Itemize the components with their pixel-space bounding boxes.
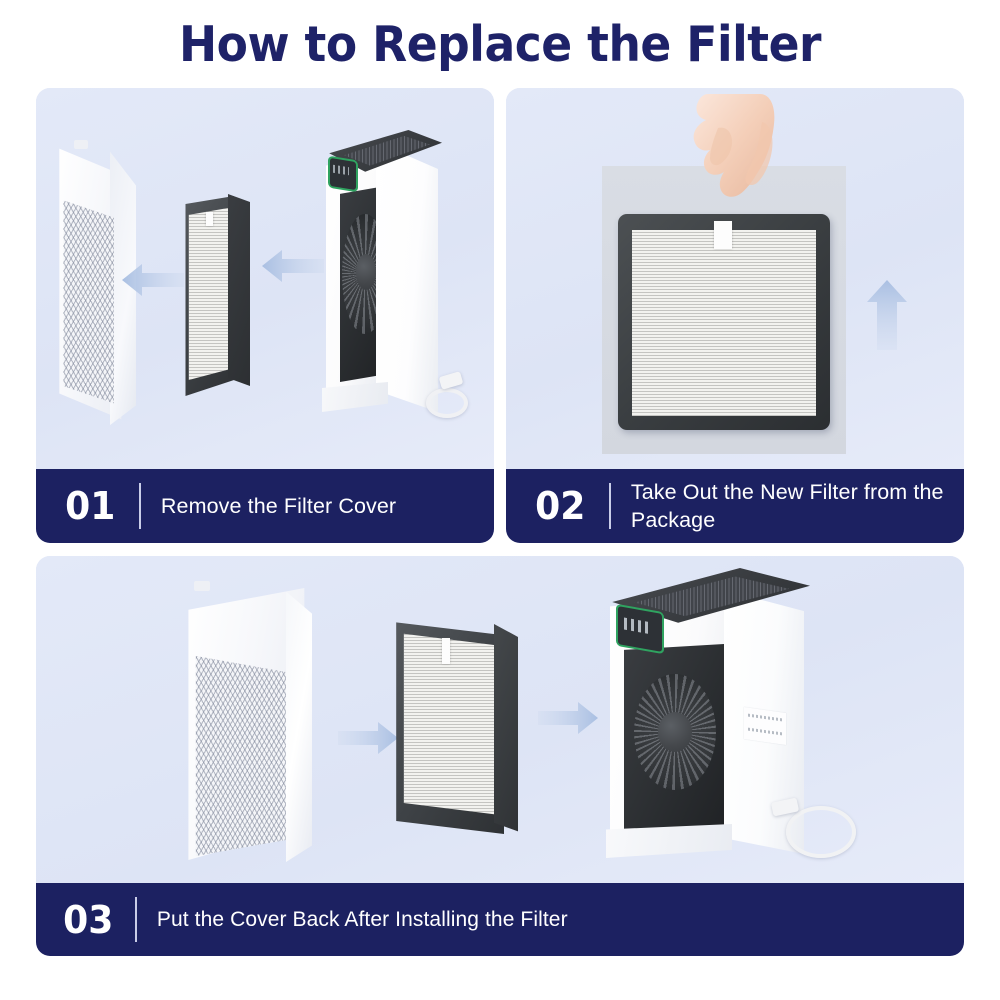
step-label: Remove the Filter Cover xyxy=(141,492,412,520)
air-purifier-body xyxy=(314,126,474,426)
power-cord xyxy=(786,806,856,858)
step-02-illustration xyxy=(506,88,964,469)
step-card-03: 03 Put the Cover Back After Installing t… xyxy=(36,556,964,956)
step-number: 03 xyxy=(38,901,132,939)
step-01-illustration xyxy=(36,88,494,469)
hepa-filter xyxy=(184,196,256,401)
step-label: Put the Cover Back After Installing the … xyxy=(137,906,584,934)
step-card-02: 02 Take Out the New Filter from the Pack… xyxy=(506,88,964,543)
infographic-page: How to Replace the Filter xyxy=(0,0,1000,1000)
filter-pull-tab xyxy=(206,212,213,226)
step-card-01: 01 Remove the Filter Cover xyxy=(36,88,494,543)
page-title: How to Replace the Filter xyxy=(35,16,965,73)
cover-mesh-grille xyxy=(194,656,286,856)
step-number: 02 xyxy=(509,487,607,525)
hepa-filter xyxy=(394,616,526,840)
filter-pull-tab xyxy=(442,638,450,664)
step-label: Take Out the New Filter from the Package xyxy=(611,478,964,535)
filter-media xyxy=(188,208,228,380)
filter-cover-panel xyxy=(186,578,326,866)
cover-mesh-grille xyxy=(62,196,114,412)
step-bar-03: 03 Put the Cover Back After Installing t… xyxy=(36,883,964,956)
hand-icon xyxy=(674,94,784,226)
filter-media xyxy=(632,230,816,416)
hepa-filter xyxy=(618,214,830,430)
step-bar-02: 02 Take Out the New Filter from the Pack… xyxy=(506,469,964,543)
filter-pull-tab xyxy=(714,221,732,249)
power-cord xyxy=(426,388,468,418)
air-purifier-body xyxy=(586,562,866,872)
step-bar-01: 01 Remove the Filter Cover xyxy=(36,469,494,543)
step-03-illustration xyxy=(36,556,964,883)
step-number: 01 xyxy=(39,487,137,525)
